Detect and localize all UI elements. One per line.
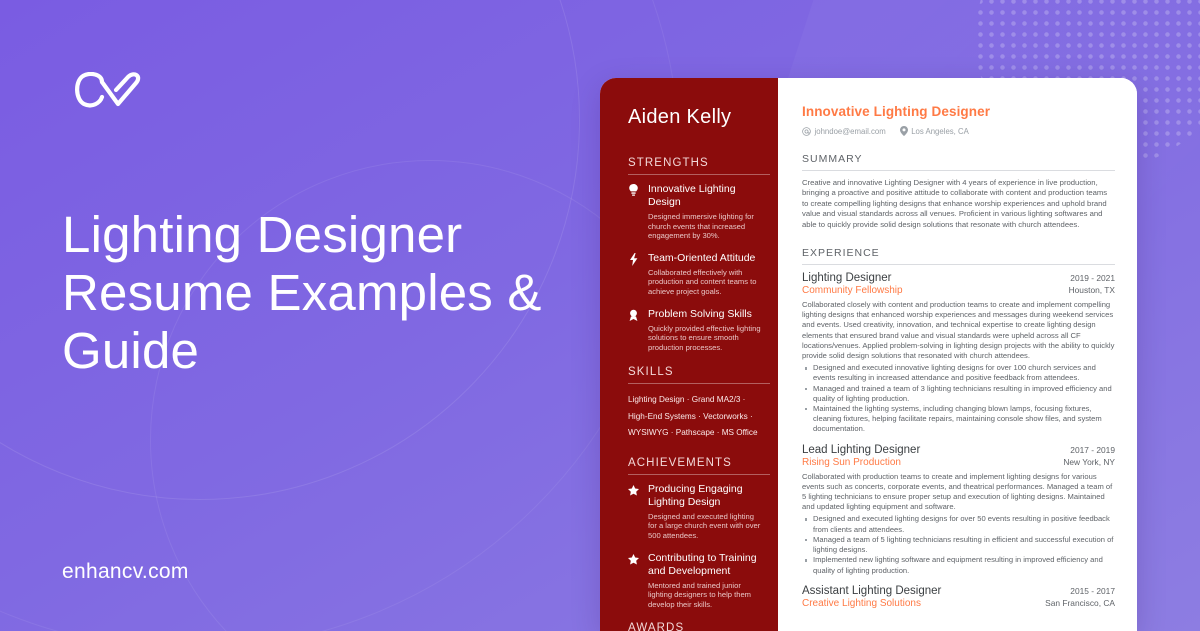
job-role: Lead Lighting Designer	[802, 444, 920, 456]
job-location: San Francisco, CA	[1045, 598, 1115, 608]
page-title: Lighting Designer Resume Examples & Guid…	[62, 206, 582, 380]
strength-item: Team-Oriented Attitude Collaborated effe…	[628, 252, 762, 297]
job-dates: 2017 - 2019	[1070, 445, 1115, 455]
job-company: Creative Lighting Solutions	[802, 598, 921, 609]
skills-line: WYSIWYG · Pathscape · MS Office	[628, 425, 762, 442]
contact-row: johndoe@email.com Los Angeles, CA	[802, 126, 1115, 136]
resume-preview-card[interactable]: Aiden Kelly STRENGTHS Innovative Lightin…	[600, 78, 1137, 631]
job-role: Assistant Lighting Designer	[802, 585, 941, 597]
job-bullet: Implemented new lighting software and eq…	[802, 555, 1115, 575]
job-dates: 2019 - 2021	[1070, 273, 1115, 283]
job-company: Rising Sun Production	[802, 457, 901, 468]
experience-entry: Assistant Lighting Designer 2015 - 2017 …	[802, 585, 1115, 609]
resume-sidebar: Aiden Kelly STRENGTHS Innovative Lightin…	[600, 78, 778, 631]
star-icon	[628, 483, 641, 541]
strength-title: Problem Solving Skills	[648, 308, 762, 321]
section-heading: EXPERIENCE	[802, 247, 1115, 265]
job-description: Collaborated with production teams to cr…	[802, 472, 1115, 513]
job-role: Lighting Designer	[802, 272, 892, 284]
enhancv-logo-icon	[72, 72, 150, 116]
section-heading: STRENGTHS	[628, 157, 770, 175]
contact-location-text: Los Angeles, CA	[911, 127, 969, 136]
strength-desc: Designed immersive lighting for church e…	[648, 212, 762, 241]
sidebar-section-achievements: ACHIEVEMENTS Producing Engaging Lighting…	[628, 457, 762, 610]
achievement-item: Producing Engaging Lighting Design Desig…	[628, 483, 762, 541]
section-heading: AWARDS	[628, 622, 770, 631]
job-bullet: Managed a team of 5 lighting technicians…	[802, 535, 1115, 555]
sidebar-section-skills: SKILLS Lighting Design · Grand MA2/3 · H…	[628, 366, 762, 442]
section-heading: ACHIEVEMENTS	[628, 457, 770, 475]
job-bullet: Maintained the lighting systems, includi…	[802, 404, 1115, 435]
sidebar-section-awards: AWARDS	[628, 622, 762, 631]
job-company: Community Fellowship	[802, 285, 903, 296]
summary-text: Creative and innovative Lighting Designe…	[802, 178, 1115, 230]
star-icon	[628, 552, 641, 610]
achievement-desc: Designed and executed lighting for a lar…	[648, 512, 762, 541]
resume-headline: Innovative Lighting Designer	[802, 104, 1115, 119]
achievement-title: Producing Engaging Lighting Design	[648, 483, 762, 509]
lightbulb-icon	[628, 183, 641, 241]
medal-icon	[628, 308, 641, 353]
job-location: Houston, TX	[1069, 285, 1115, 295]
skills-line: Lighting Design · Grand MA2/3 ·	[628, 392, 762, 409]
at-email-icon	[802, 127, 811, 136]
strength-desc: Collaborated effectively with production…	[648, 268, 762, 297]
lightning-bolt-icon	[628, 252, 641, 297]
contact-location[interactable]: Los Angeles, CA	[900, 126, 969, 136]
sidebar-section-strengths: STRENGTHS Innovative Lighting Design Des…	[628, 157, 762, 352]
skills-line: High-End Systems · Vectorworks ·	[628, 409, 762, 426]
section-heading: SKILLS	[628, 366, 770, 384]
job-description: Collaborated closely with content and pr…	[802, 300, 1115, 361]
strength-desc: Quickly provided effective lighting solu…	[648, 324, 762, 353]
job-bullet: Designed and executed innovative lightin…	[802, 363, 1115, 383]
experience-entry: Lead Lighting Designer 2017 - 2019 Risin…	[802, 444, 1115, 576]
experience-entry: Lighting Designer 2019 - 2021 Community …	[802, 272, 1115, 435]
strength-item: Innovative Lighting Design Designed imme…	[628, 183, 762, 241]
section-heading: SUMMARY	[802, 153, 1115, 171]
strength-title: Team-Oriented Attitude	[648, 252, 762, 265]
location-pin-icon	[900, 126, 908, 136]
site-url: enhancv.com	[62, 560, 189, 584]
resume-main-column: Innovative Lighting Designer johndoe@ema…	[778, 78, 1137, 631]
achievement-item: Contributing to Training and Development…	[628, 552, 762, 610]
achievement-title: Contributing to Training and Development	[648, 552, 762, 578]
experience-section: EXPERIENCE Lighting Designer 2019 - 2021…	[802, 247, 1115, 609]
candidate-name: Aiden Kelly	[628, 106, 762, 129]
job-bullet: Managed and trained a team of 3 lighting…	[802, 384, 1115, 404]
job-bullets: Designed and executed lighting designs f…	[802, 514, 1115, 575]
achievement-desc: Mentored and trained junior lighting des…	[648, 581, 762, 610]
contact-email[interactable]: johndoe@email.com	[802, 127, 886, 136]
contact-email-text: johndoe@email.com	[815, 127, 886, 136]
job-bullet: Designed and executed lighting designs f…	[802, 514, 1115, 534]
strength-title: Innovative Lighting Design	[648, 183, 762, 209]
job-bullets: Designed and executed innovative lightin…	[802, 363, 1115, 434]
job-location: New York, NY	[1063, 457, 1115, 467]
job-dates: 2015 - 2017	[1070, 586, 1115, 596]
summary-section: SUMMARY Creative and innovative Lighting…	[802, 153, 1115, 230]
strength-item: Problem Solving Skills Quickly provided …	[628, 308, 762, 353]
